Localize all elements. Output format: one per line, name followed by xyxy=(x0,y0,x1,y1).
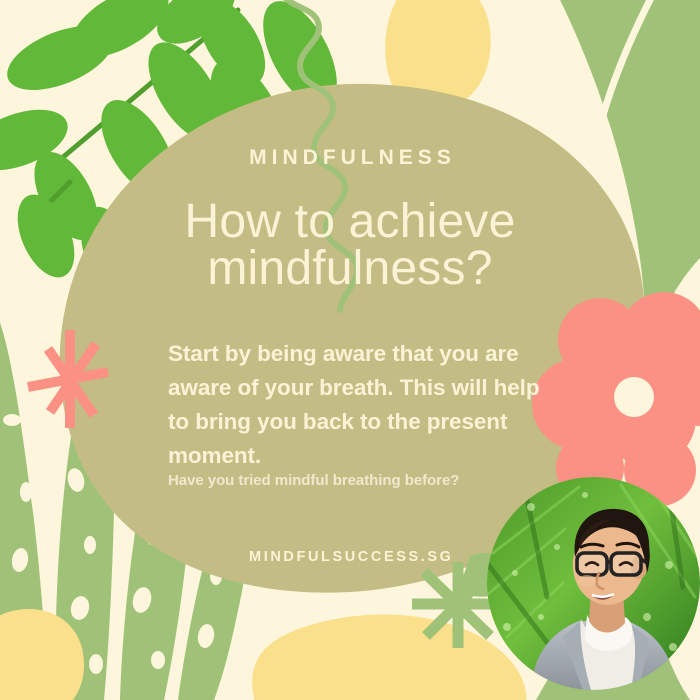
headline-line-1: How to achieve xyxy=(185,195,516,248)
avatar xyxy=(487,477,700,690)
page-title: How to achieve mindfulness? xyxy=(0,198,700,292)
poster-canvas: MINDFULNESS How to achieve mindfulness? … xyxy=(0,0,700,700)
engagement-question: Have you tried mindful breathing before? xyxy=(168,472,568,489)
headline-line-2: mindfulness? xyxy=(207,242,492,295)
body-paragraph: Start by being aware that you are aware … xyxy=(168,337,546,473)
eyebrow-label: MINDFULNESS xyxy=(0,146,700,170)
portrait-photo xyxy=(487,477,700,690)
